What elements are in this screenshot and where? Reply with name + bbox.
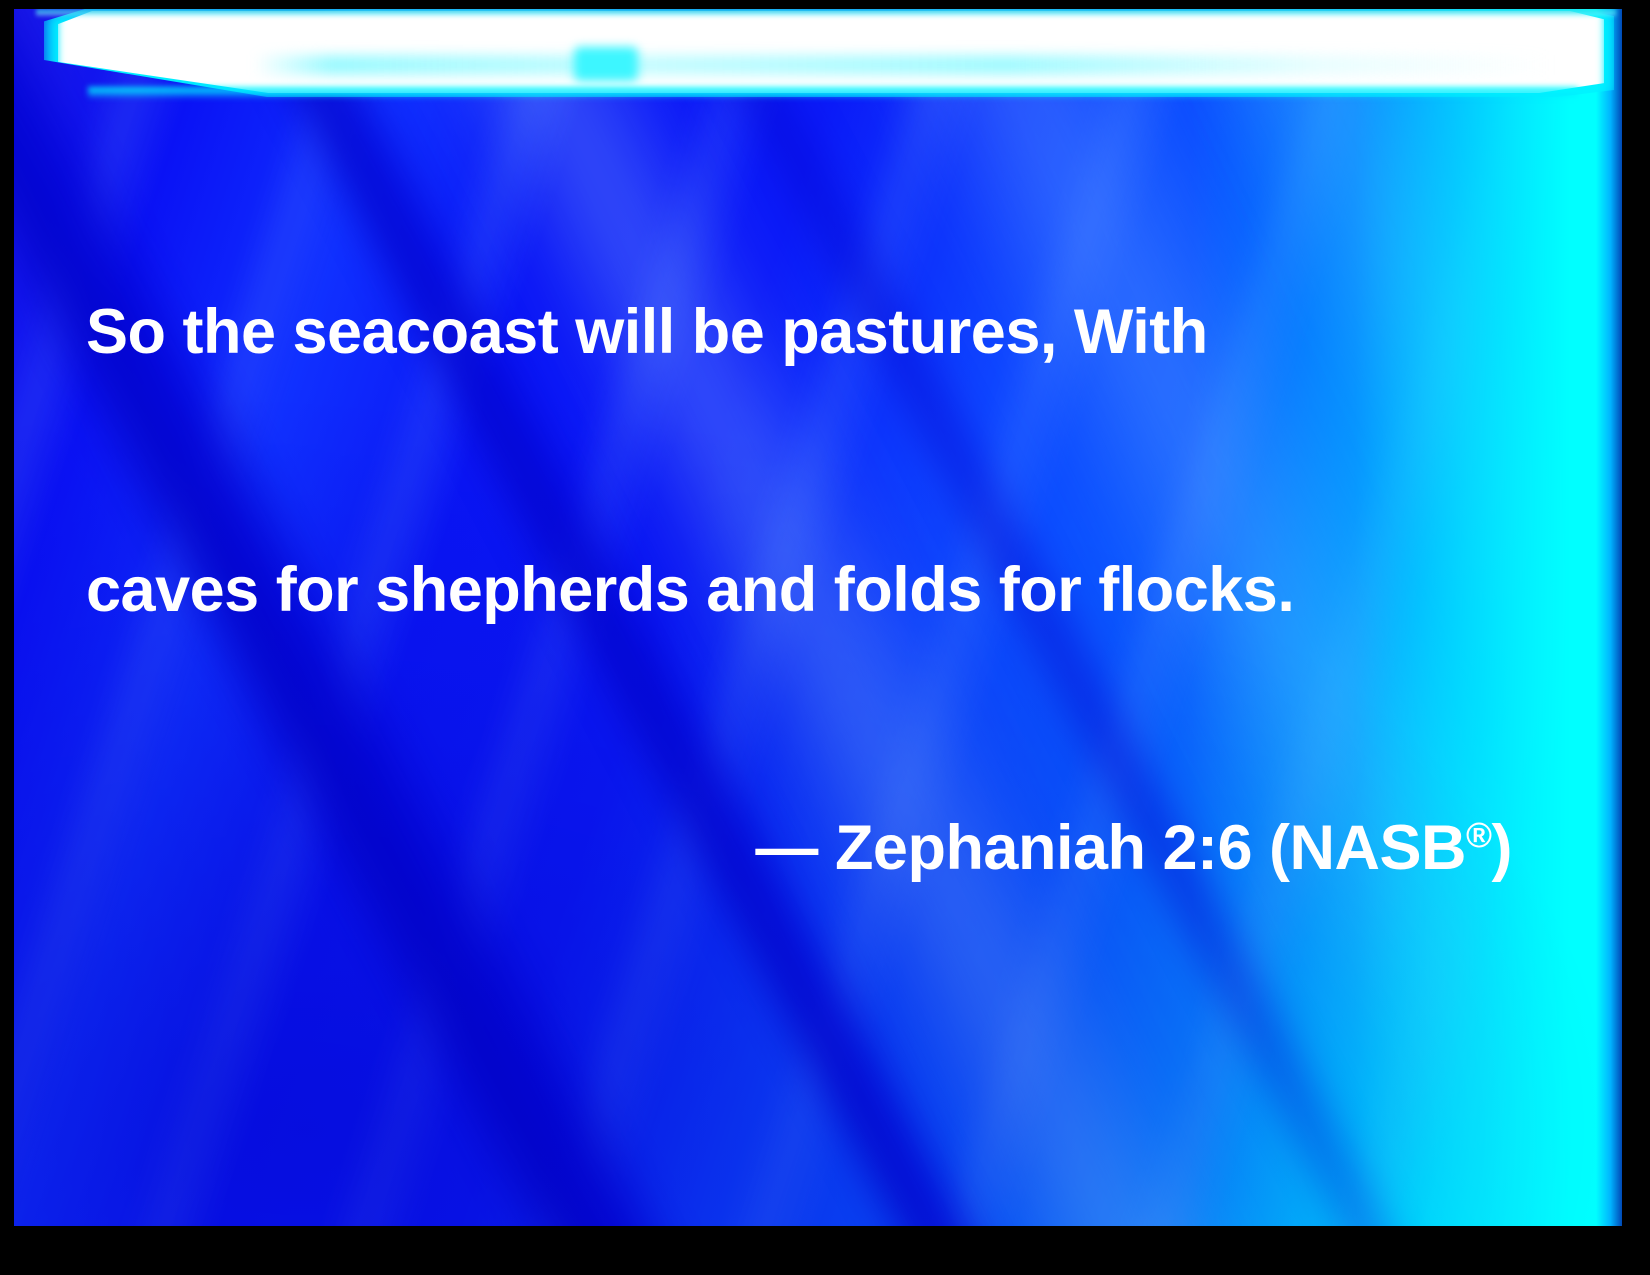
banner-white-band (58, 11, 1604, 93)
banner-cyan-stripe (254, 55, 1552, 75)
banner-bottom-edge (88, 87, 1578, 99)
banner-cyan-blob (574, 47, 638, 81)
verse-line-1: So the seacoast will be pastures, With (86, 289, 1512, 375)
verse-reference: — Zephaniah 2:6 (NASB®) (86, 805, 1512, 891)
banner-top-edge (36, 9, 1616, 17)
registered-trademark-icon: ® (1466, 816, 1491, 855)
verse-text-block: So the seacoast will be pastures, With c… (86, 117, 1512, 1063)
top-banner (14, 9, 1622, 101)
verse-line-2: caves for shepherds and folds for flocks… (86, 547, 1512, 633)
reference-book: Zephaniah 2:6 (NASB (835, 813, 1466, 883)
verse-slide: So the seacoast will be pastures, With c… (0, 0, 1650, 1275)
reference-close-paren: ) (1492, 813, 1512, 883)
slide-canvas: So the seacoast will be pastures, With c… (14, 9, 1622, 1226)
reference-dash: — (755, 813, 835, 883)
